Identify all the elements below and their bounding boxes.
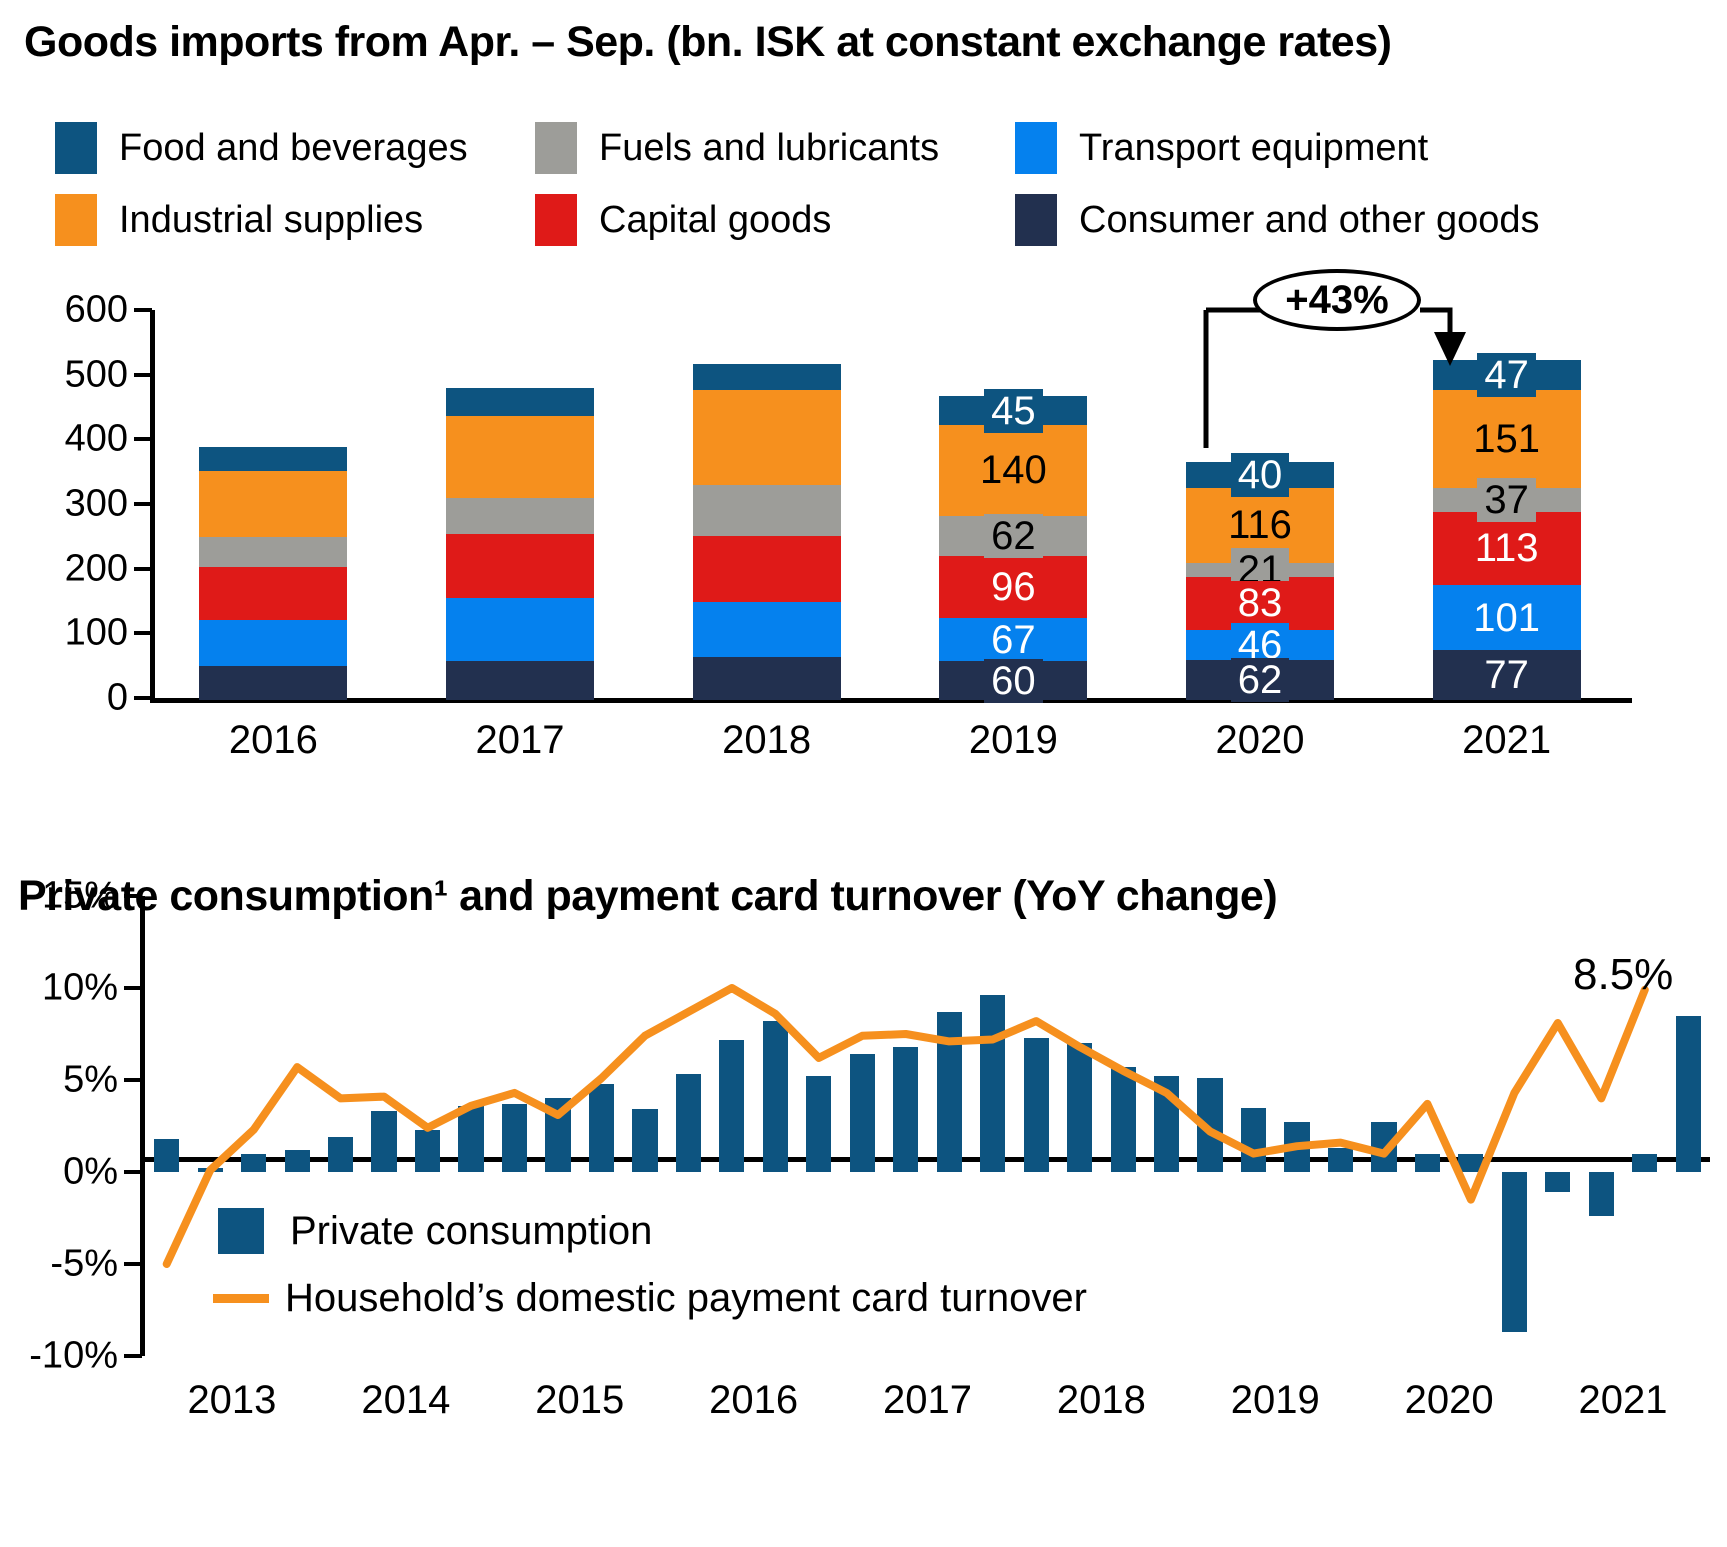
x-tick-label-2018: 2018 bbox=[667, 718, 867, 763]
quarterly-bar bbox=[371, 1111, 396, 1172]
legend-item-1: Household’s domestic payment card turnov… bbox=[218, 1276, 1087, 1321]
bar-segment-transport-equipment bbox=[446, 598, 594, 661]
bar-segment-transport-equipment bbox=[199, 620, 347, 665]
x-tick-label-2017: 2017 bbox=[420, 718, 620, 763]
legend-item-label: Industrial supplies bbox=[119, 199, 423, 242]
y-tick-label: 0 bbox=[107, 677, 128, 720]
x-tick-label-2021: 2021 bbox=[1407, 718, 1607, 763]
quarterly-bar bbox=[1458, 1154, 1483, 1172]
stacked-bar-2017 bbox=[446, 388, 594, 700]
bar-segment-consumer-and-other-goods bbox=[446, 661, 594, 700]
quarterly-bar bbox=[1415, 1154, 1440, 1172]
legend-item-label: Fuels and lubricants bbox=[599, 127, 939, 170]
bar-value-label: 101 bbox=[1466, 596, 1547, 640]
quarterly-bar bbox=[893, 1047, 918, 1172]
quarterly-bar bbox=[676, 1074, 701, 1172]
bar-segment-industrial-supplies bbox=[199, 471, 347, 537]
y-tick-label: 5% bbox=[63, 1059, 118, 1102]
quarterly-bar bbox=[806, 1076, 831, 1172]
x-tick-label-2016: 2016 bbox=[674, 1378, 834, 1423]
legend-swatch-icon bbox=[55, 194, 97, 246]
bar-segment-consumer-and-other-goods: 62 bbox=[1186, 660, 1334, 700]
quarterly-bar bbox=[198, 1168, 223, 1172]
quarterly-bar bbox=[1197, 1078, 1222, 1172]
bar-segment-transport-equipment: 101 bbox=[1433, 585, 1581, 650]
x-tick-label-2019: 2019 bbox=[913, 718, 1113, 763]
bar-segment-consumer-and-other-goods: 77 bbox=[1433, 650, 1581, 700]
bar-value-label: 140 bbox=[973, 448, 1054, 492]
bar-value-label: 67 bbox=[984, 618, 1043, 662]
quarterly-bar bbox=[1154, 1076, 1179, 1172]
legend-item-0: Food and beverages bbox=[55, 122, 535, 174]
legend-line-icon bbox=[213, 1294, 269, 1303]
bar-segment-capital-goods: 113 bbox=[1433, 512, 1581, 585]
x-tick-label-2013: 2013 bbox=[152, 1378, 312, 1423]
y-tick-label: 15% bbox=[42, 875, 118, 918]
legend-item-0: Private consumption bbox=[218, 1208, 1087, 1254]
x-tick-label-2020: 2020 bbox=[1369, 1378, 1529, 1423]
bar-value-label: 151 bbox=[1466, 417, 1547, 461]
legend-item-label: Capital goods bbox=[599, 199, 831, 242]
y-tick-label: 0% bbox=[63, 1151, 118, 1194]
quarterly-bar bbox=[1241, 1108, 1266, 1172]
bar-value-label: 60 bbox=[984, 659, 1043, 703]
bar-segment-consumer-and-other-goods: 60 bbox=[939, 661, 1087, 700]
y-tick-label: 200 bbox=[65, 547, 128, 590]
y-tick bbox=[124, 1354, 142, 1358]
bar-value-label: 37 bbox=[1477, 478, 1536, 522]
growth-callout-badge: +43% bbox=[1253, 269, 1421, 331]
stacked-bar-2018 bbox=[693, 364, 841, 700]
quarterly-bar bbox=[328, 1137, 353, 1172]
y-tick-label: 500 bbox=[65, 353, 128, 396]
legend-swatch-icon bbox=[535, 194, 577, 246]
bar-value-label: 83 bbox=[1231, 581, 1290, 625]
quarterly-bar bbox=[1111, 1067, 1136, 1172]
bar-value-label: 113 bbox=[1468, 526, 1546, 570]
legend-item-5: Consumer and other goods bbox=[1015, 194, 1535, 246]
legend-swatch-icon bbox=[218, 1208, 264, 1254]
stacked-bar-2019: 4514062966760 bbox=[939, 396, 1087, 700]
bar-segment-industrial-supplies: 140 bbox=[939, 425, 1087, 516]
bar-segment-fuels-and-lubricants: 62 bbox=[939, 516, 1087, 556]
x-tick-label-2017: 2017 bbox=[848, 1378, 1008, 1423]
bar-value-label: 47 bbox=[1477, 353, 1536, 397]
legend-swatch-icon bbox=[55, 122, 97, 174]
quarterly-bar bbox=[1632, 1154, 1657, 1172]
bar-value-label: 45 bbox=[984, 389, 1043, 433]
x-tick-label-2014: 2014 bbox=[326, 1378, 486, 1423]
bar-segment-fuels-and-lubricants bbox=[446, 498, 594, 535]
legend-item-1: Fuels and lubricants bbox=[535, 122, 1015, 174]
y-tick-label: -5% bbox=[50, 1243, 118, 1286]
quarterly-bar bbox=[1024, 1038, 1049, 1172]
bar-segment-food-and-beverages bbox=[446, 388, 594, 416]
bar-segment-capital-goods bbox=[199, 567, 347, 620]
bar-segment-food-and-beverages bbox=[199, 447, 347, 471]
quarterly-bar bbox=[1067, 1043, 1092, 1172]
bar-value-label: 77 bbox=[1477, 653, 1536, 697]
quarterly-bar bbox=[850, 1054, 875, 1172]
bar-segment-food-and-beverages bbox=[693, 364, 841, 389]
quarterly-bar bbox=[589, 1084, 614, 1172]
bar-segment-transport-equipment: 67 bbox=[939, 618, 1087, 661]
quarterly-bar bbox=[719, 1040, 744, 1172]
bar-value-label: 40 bbox=[1231, 453, 1290, 497]
bar-segment-fuels-and-lubricants bbox=[199, 537, 347, 567]
legend-item-2: Transport equipment bbox=[1015, 122, 1535, 174]
quarterly-bar bbox=[1371, 1122, 1396, 1172]
legend-item-label: Consumer and other goods bbox=[1079, 199, 1540, 242]
quarterly-bar bbox=[1502, 1172, 1527, 1332]
x-tick-label-2020: 2020 bbox=[1160, 718, 1360, 763]
quarterly-bar bbox=[285, 1150, 310, 1172]
y-tick-label: 10% bbox=[42, 967, 118, 1010]
quarterly-bar bbox=[1589, 1172, 1614, 1216]
bar-value-label: 96 bbox=[984, 565, 1043, 609]
x-tick-label-2016: 2016 bbox=[173, 718, 373, 763]
bar-segment-capital-goods bbox=[693, 536, 841, 603]
quarterly-bar bbox=[937, 1012, 962, 1172]
y-tick-label: 400 bbox=[65, 418, 128, 461]
legend-swatch-icon bbox=[1015, 122, 1057, 174]
legend-item-3: Industrial supplies bbox=[55, 194, 535, 246]
quarterly-bar bbox=[154, 1139, 179, 1172]
quarterly-bar bbox=[763, 1021, 788, 1172]
bar-segment-capital-goods: 96 bbox=[939, 556, 1087, 618]
y-tick bbox=[124, 986, 142, 990]
top-chart-legend: Food and beveragesFuels and lubricantsTr… bbox=[55, 112, 1655, 256]
legend-item-label: Food and beverages bbox=[119, 127, 468, 170]
bar-value-label: 116 bbox=[1221, 503, 1299, 547]
quarterly-bar bbox=[415, 1130, 440, 1172]
y-tick bbox=[124, 894, 142, 898]
y-tick bbox=[124, 1170, 142, 1174]
bar-value-label: 62 bbox=[1231, 658, 1290, 702]
quarterly-bar bbox=[1545, 1172, 1570, 1192]
bar-value-label: 62 bbox=[984, 514, 1043, 558]
y-tick bbox=[124, 1078, 142, 1082]
top-chart-title: Goods imports from Apr. – Sep. (bn. ISK … bbox=[24, 18, 1391, 67]
bar-segment-fuels-and-lubricants bbox=[693, 485, 841, 536]
legend-item-label: Private consumption bbox=[290, 1209, 652, 1254]
y-tick-label: 300 bbox=[65, 483, 128, 526]
quarterly-bar bbox=[241, 1154, 266, 1172]
y-tick bbox=[124, 1262, 142, 1266]
y-tick-label: -10% bbox=[29, 1335, 118, 1378]
bar-segment-consumer-and-other-goods bbox=[693, 657, 841, 700]
figure-root: Goods imports from Apr. – Sep. (bn. ISK … bbox=[0, 0, 1727, 1547]
bar-segment-industrial-supplies bbox=[446, 416, 594, 497]
bar-segment-transport-equipment: 46 bbox=[1186, 630, 1334, 660]
bar-segment-fuels-and-lubricants: 21 bbox=[1186, 563, 1334, 577]
bar-segment-food-and-beverages: 45 bbox=[939, 396, 1087, 425]
legend-item-label: Household’s domestic payment card turnov… bbox=[285, 1276, 1087, 1321]
x-tick-label-2019: 2019 bbox=[1195, 1378, 1355, 1423]
legend-swatch-icon bbox=[535, 122, 577, 174]
legend-item-label: Transport equipment bbox=[1079, 127, 1428, 170]
quarterly-bar bbox=[1676, 1016, 1701, 1172]
quarterly-bar bbox=[1328, 1148, 1353, 1172]
private-consumption-annotation: 8.5% bbox=[1573, 950, 1673, 1000]
bottom-chart-legend: Private consumptionHousehold’s domestic … bbox=[218, 1208, 1087, 1343]
quarterly-bar bbox=[632, 1109, 657, 1172]
y-tick-label: 100 bbox=[65, 612, 128, 655]
bar-segment-industrial-supplies bbox=[693, 390, 841, 485]
x-tick-label-2015: 2015 bbox=[500, 1378, 660, 1423]
quarterly-bar bbox=[1284, 1122, 1309, 1172]
bar-segment-capital-goods bbox=[446, 534, 594, 597]
y-tick-label: 600 bbox=[65, 289, 128, 332]
bar-segment-consumer-and-other-goods bbox=[199, 666, 347, 700]
quarterly-bar bbox=[545, 1098, 570, 1172]
stacked-bar-2016 bbox=[199, 447, 347, 700]
bar-segment-transport-equipment bbox=[693, 602, 841, 657]
legend-swatch-icon bbox=[1015, 194, 1057, 246]
quarterly-bar bbox=[980, 995, 1005, 1172]
quarterly-bar bbox=[458, 1106, 483, 1172]
legend-item-4: Capital goods bbox=[535, 194, 1015, 246]
x-tick-label-2021: 2021 bbox=[1543, 1378, 1703, 1423]
x-tick-label-2018: 2018 bbox=[1021, 1378, 1181, 1423]
quarterly-bar bbox=[502, 1104, 527, 1172]
